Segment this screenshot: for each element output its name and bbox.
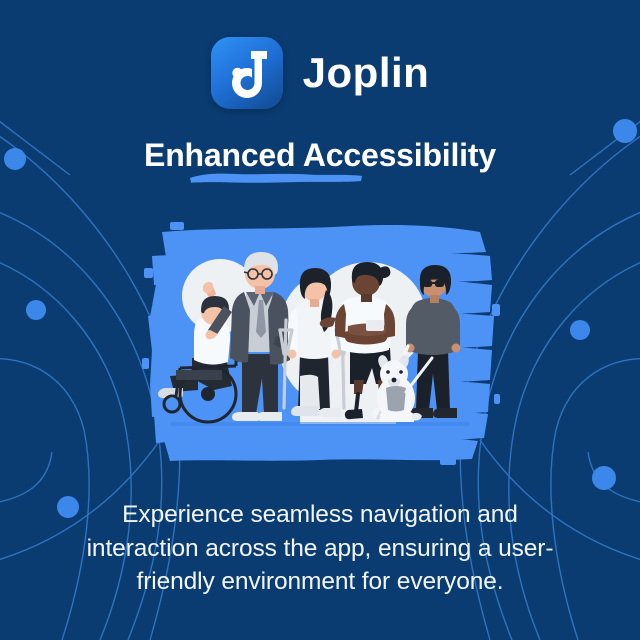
prosthetic-leg-icon xyxy=(356,394,358,412)
joplin-logo-glyph xyxy=(211,37,283,109)
brand-wordmark: Joplin xyxy=(303,52,430,94)
illustration-artwork xyxy=(140,208,502,476)
accessibility-group-illustration xyxy=(140,208,502,476)
decor-dot-bottom-right xyxy=(592,466,616,490)
decor-dot-mid-left xyxy=(26,300,46,320)
joplin-logo-icon[interactable] xyxy=(211,37,283,109)
decor-dot-mid-right xyxy=(570,320,590,340)
brand-header: Joplin xyxy=(0,36,640,110)
body-description: Experience seamless navigation and inter… xyxy=(70,498,570,599)
page-title: Enhanced Accessibility xyxy=(144,138,496,173)
headline-block: Enhanced Accessibility xyxy=(0,138,640,173)
poster-canvas: Joplin Enhanced Accessibility xyxy=(0,0,640,640)
